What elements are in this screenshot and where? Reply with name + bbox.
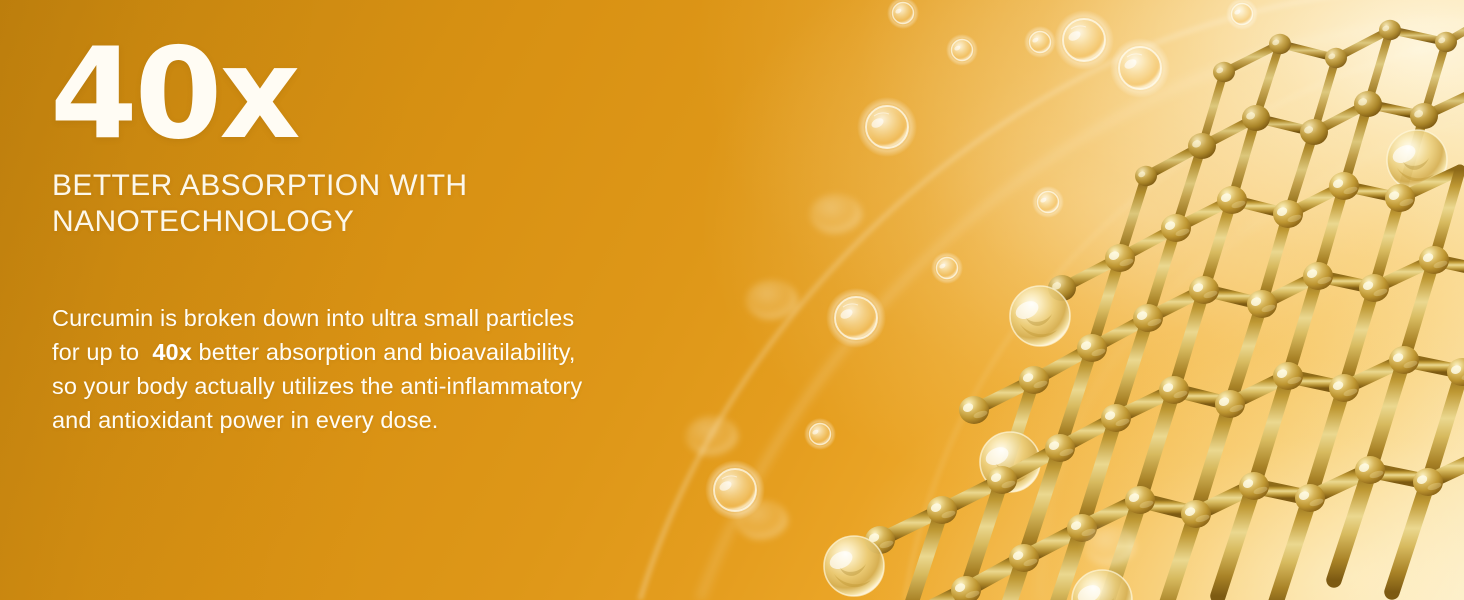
oil-bubble-sharp-group <box>804 0 1258 450</box>
headline-subtitle: BETTER ABSORPTION WITH NANOTECHNOLOGY <box>52 168 572 241</box>
headline-subtitle-line-1: BETTER ABSORPTION WITH <box>52 169 468 202</box>
stat-number-headline: 40x <box>50 34 800 154</box>
body-copy-line-4: and antioxidant power in every dose. <box>52 403 752 437</box>
body-copy-line-2-prefix: for up to <box>52 339 152 365</box>
body-copy-emphasis: 40x <box>152 339 192 365</box>
body-copy-line-2-suffix: better absorption and bioavailability, <box>192 339 576 365</box>
banner-content: 40x BETTER ABSORPTION WITH NANOTECHNOLOG… <box>0 0 800 600</box>
headline-subtitle-line-2: NANOTECHNOLOGY <box>52 205 354 238</box>
body-copy-line-1: Curcumin is broken down into ultra small… <box>52 301 752 335</box>
body-copy-line-2: for up to 40x better absorption and bioa… <box>52 335 752 369</box>
body-copy-line-3: so your body actually utilizes the anti-… <box>52 369 752 403</box>
body-copy: Curcumin is broken down into ultra small… <box>52 301 752 437</box>
promo-banner: 40x BETTER ABSORPTION WITH NANOTECHNOLOG… <box>0 0 1464 600</box>
